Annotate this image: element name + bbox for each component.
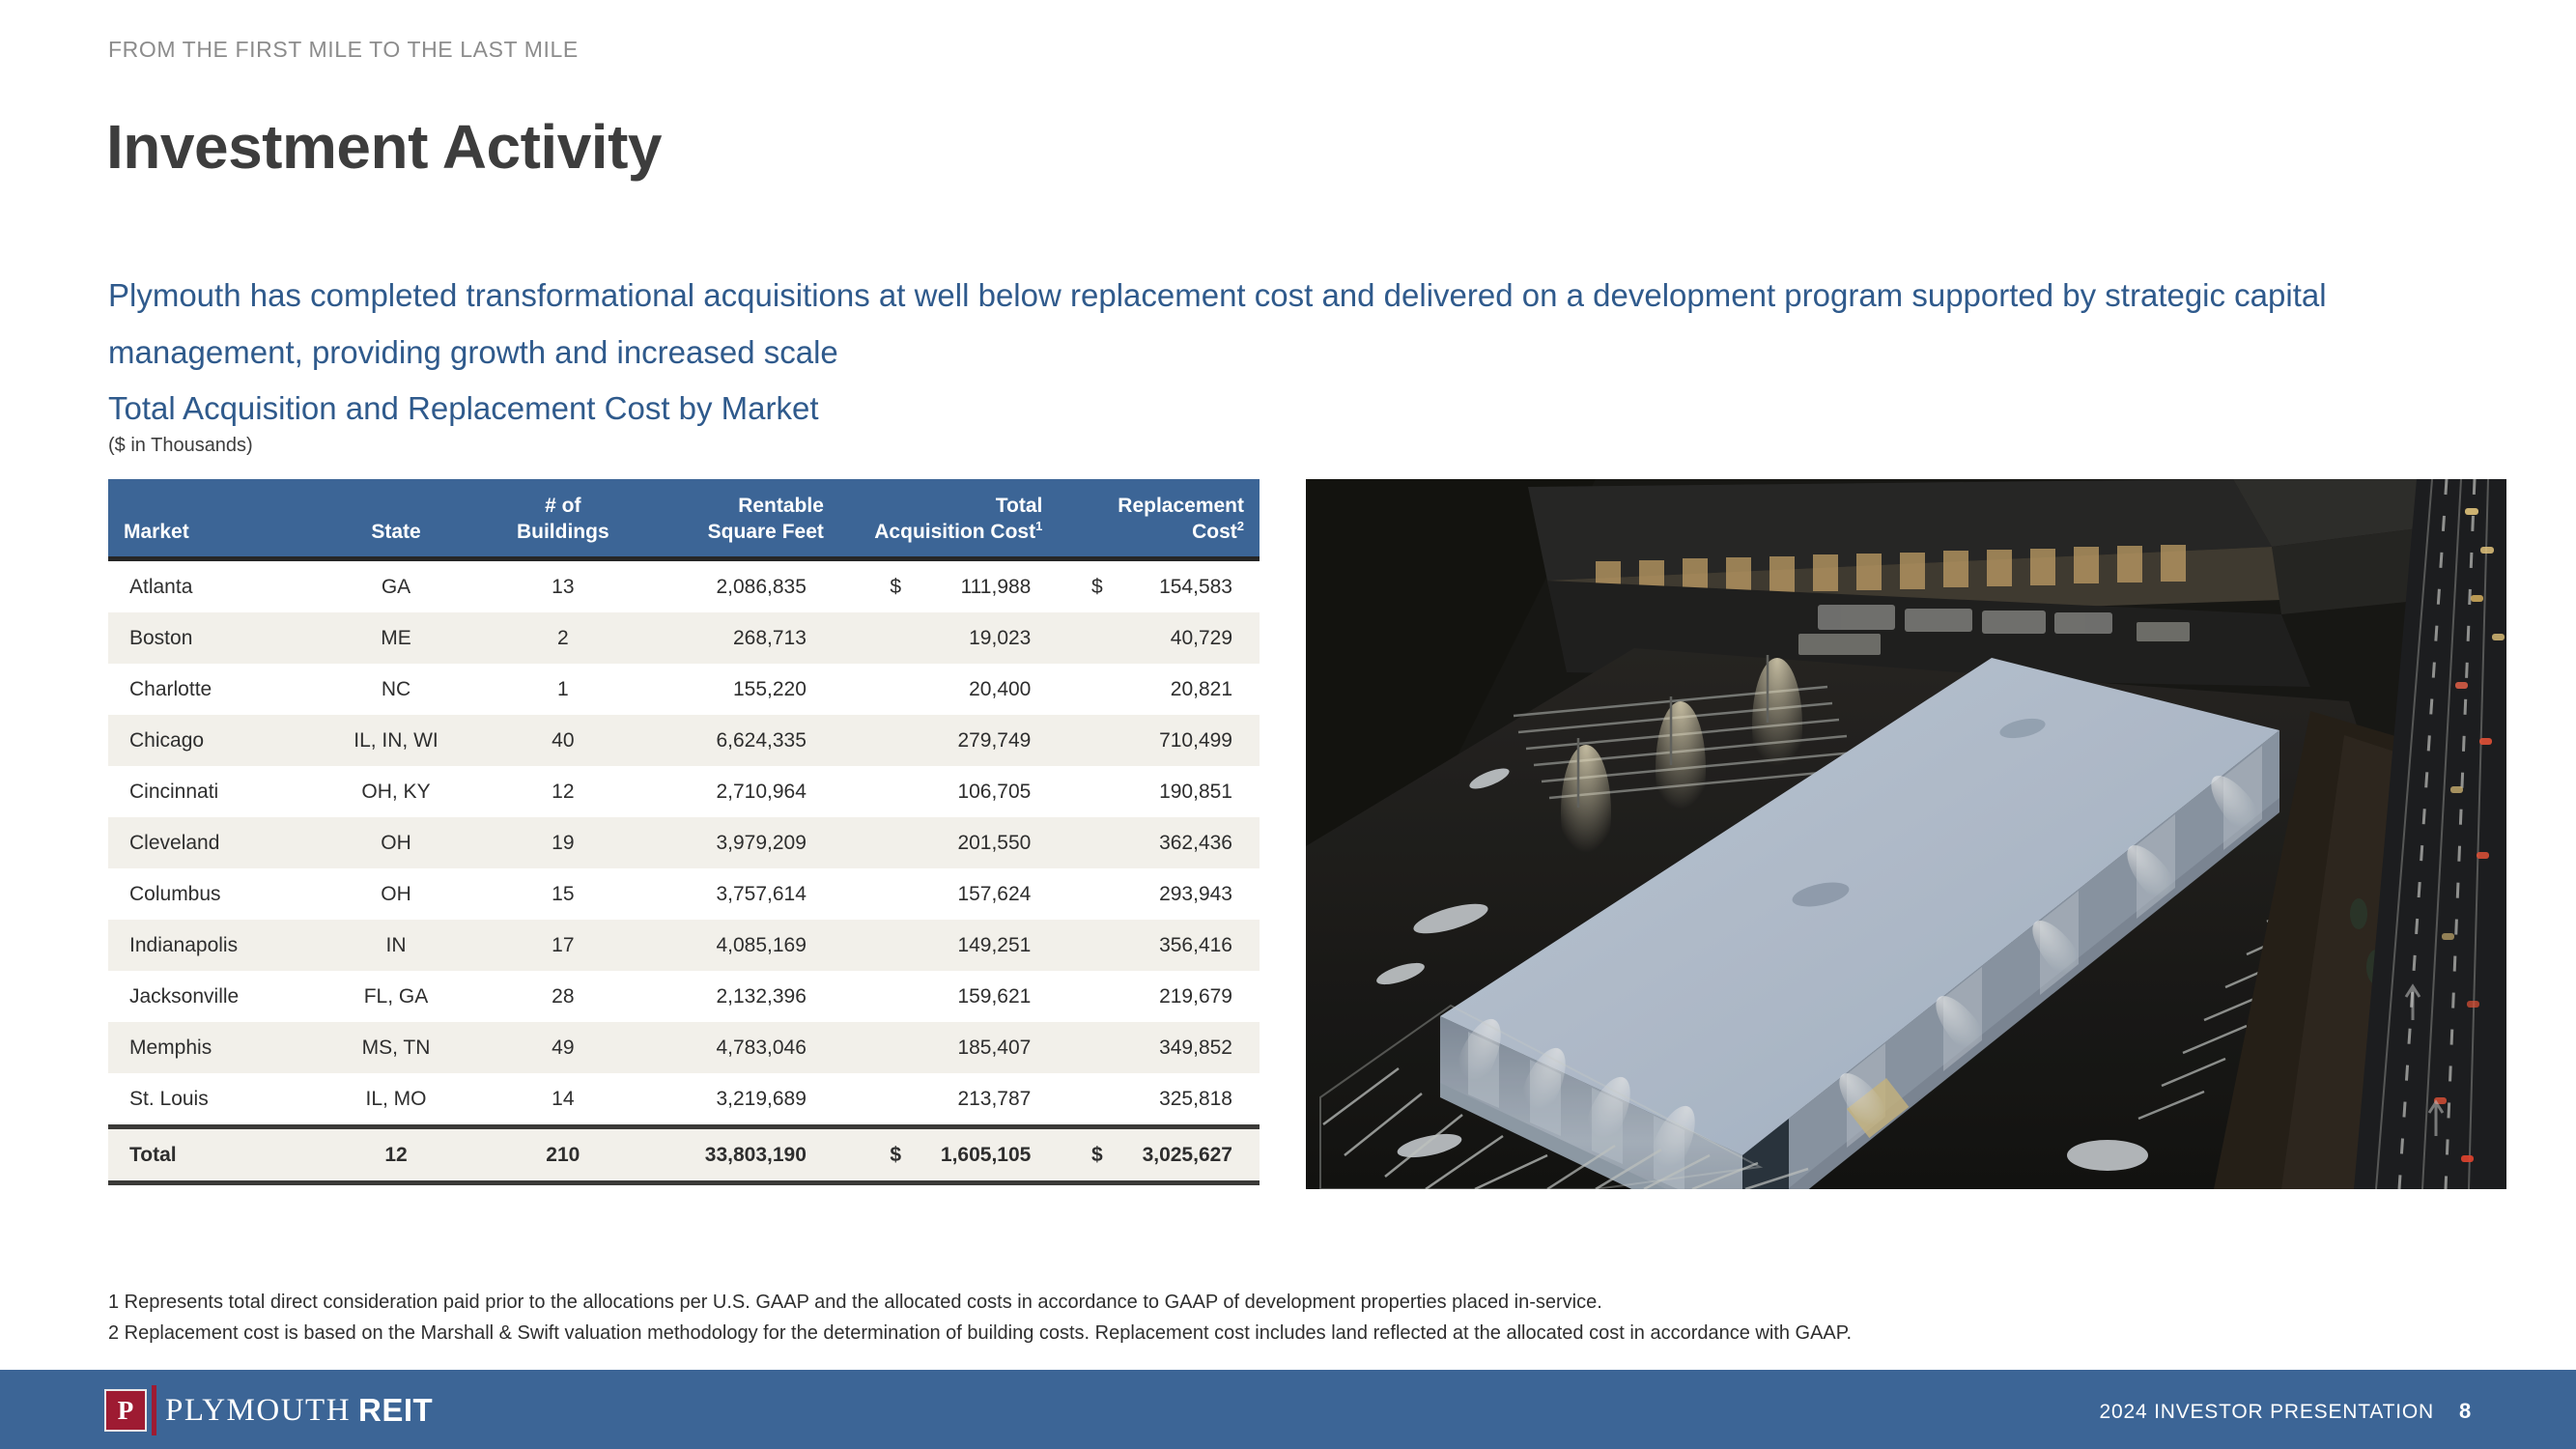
column-header-acquisition-cost-top: Total: [996, 495, 1043, 517]
cell-buildings: 17: [482, 920, 643, 971]
cell-total-square-feet: 33,803,190: [643, 1127, 839, 1183]
cell-square-feet: 2,132,396: [643, 971, 839, 1022]
cell-acquisition-cost: 19,023: [839, 612, 1058, 664]
table-row: IndianapolisIN174,085,169149,251356,416: [108, 920, 1260, 971]
column-header-buildings-label: Buildings: [517, 521, 609, 543]
table-row: CharlotteNC1155,22020,40020,821: [108, 664, 1260, 715]
cell-square-feet: 268,713: [643, 612, 839, 664]
section-title: Total Acquisition and Replacement Cost b…: [108, 390, 819, 427]
table-row: St. LouisIL, MO143,219,689213,787325,818: [108, 1073, 1260, 1127]
cell-square-feet: 155,220: [643, 664, 839, 715]
logo-reit-text: REIT: [358, 1392, 433, 1429]
amount-value: 190,851: [1128, 781, 1232, 804]
footnote-marker-1: 1: [1035, 519, 1042, 533]
lead-paragraph: Plymouth has completed transformational …: [108, 267, 2417, 381]
cell-buildings: 19: [482, 817, 643, 868]
column-header-acquisition-cost: Total Acquisition Cost1: [839, 479, 1058, 559]
table-row: ClevelandOH193,979,209201,550362,436: [108, 817, 1260, 868]
cell-buildings: 1: [482, 664, 643, 715]
cell-acquisition-cost: 159,621: [839, 971, 1058, 1022]
amount-value: 19,023: [926, 627, 1031, 650]
cell-buildings: 14: [482, 1073, 643, 1127]
column-header-replacement-cost: Replacement Cost2: [1058, 479, 1260, 559]
plymouth-reit-logo[interactable]: P PLYMOUTH REIT: [104, 1389, 433, 1432]
cell-market: Cleveland: [108, 817, 310, 868]
cell-replacement-cost: $154,583: [1058, 559, 1260, 613]
amount-value: 219,679: [1128, 985, 1232, 1009]
section-subtitle: ($ in Thousands): [108, 435, 253, 457]
cell-state: FL, GA: [310, 971, 483, 1022]
cell-buildings: 2: [482, 612, 643, 664]
column-header-square-feet: Rentable Square Feet: [643, 479, 839, 559]
footnote-2: 2 Replacement cost is based on the Marsh…: [108, 1318, 1852, 1349]
currency-symbol: $: [890, 576, 926, 599]
cell-replacement-cost: 219,679: [1058, 971, 1260, 1022]
amount-value: 149,251: [926, 934, 1031, 957]
cell-buildings: 13: [482, 559, 643, 613]
cell-market: Cincinnati: [108, 766, 310, 817]
footnote-marker-2: 2: [1237, 519, 1244, 533]
currency-symbol: $: [1091, 576, 1128, 599]
cell-state: MS, TN: [310, 1022, 483, 1073]
cell-state: GA: [310, 559, 483, 613]
cell-acquisition-cost: 20,400: [839, 664, 1058, 715]
presentation-label: 2024 INVESTOR PRESENTATION: [2100, 1401, 2434, 1424]
cell-state: IL, IN, WI: [310, 715, 483, 766]
column-header-square-feet-label: Square Feet: [708, 521, 824, 543]
property-photo-illustration: [1306, 479, 2506, 1189]
cell-square-feet: 4,085,169: [643, 920, 839, 971]
logo-p-mark: P: [104, 1389, 147, 1432]
cell-replacement-cost: 356,416: [1058, 920, 1260, 971]
amount-value: 3,025,627: [1128, 1144, 1232, 1167]
cell-square-feet: 3,757,614: [643, 868, 839, 920]
column-header-replacement-cost-label: Cost: [1192, 521, 1237, 543]
cell-replacement-cost: 293,943: [1058, 868, 1260, 920]
logo-divider-rule: [152, 1385, 156, 1435]
cell-state: NC: [310, 664, 483, 715]
cell-total-acquisition-cost: $1,605,105: [839, 1127, 1058, 1183]
table-row: ChicagoIL, IN, WI406,624,335279,749710,4…: [108, 715, 1260, 766]
amount-value: 362,436: [1128, 832, 1232, 855]
column-header-state-label: State: [371, 521, 420, 543]
amount-value: 185,407: [926, 1037, 1031, 1060]
cell-buildings: 15: [482, 868, 643, 920]
logo-plymouth-text: PLYMOUTH: [165, 1393, 351, 1429]
amount-value: 154,583: [1128, 576, 1232, 599]
cell-acquisition-cost: 279,749: [839, 715, 1058, 766]
amount-value: 106,705: [926, 781, 1031, 804]
amount-value: 356,416: [1128, 934, 1232, 957]
cell-acquisition-cost: $111,988: [839, 559, 1058, 613]
cell-market: Chicago: [108, 715, 310, 766]
cell-total-label: Total: [108, 1127, 310, 1183]
cell-replacement-cost: 20,821: [1058, 664, 1260, 715]
cell-state: OH: [310, 868, 483, 920]
cell-replacement-cost: 362,436: [1058, 817, 1260, 868]
cell-market: Indianapolis: [108, 920, 310, 971]
cell-market: Boston: [108, 612, 310, 664]
amount-value: 159,621: [926, 985, 1031, 1009]
cell-acquisition-cost: 106,705: [839, 766, 1058, 817]
amount-value: 157,624: [926, 883, 1031, 906]
amount-value: 213,787: [926, 1088, 1031, 1111]
cell-square-feet: 4,783,046: [643, 1022, 839, 1073]
cell-replacement-cost: 190,851: [1058, 766, 1260, 817]
column-header-market: Market: [108, 479, 310, 559]
footnote-1: 1 Represents total direct consideration …: [108, 1287, 1852, 1318]
amount-value: 1,605,105: [926, 1144, 1031, 1167]
acquisition-cost-table: Market State # of Buildings: [108, 479, 1260, 1185]
cell-buildings: 40: [482, 715, 643, 766]
cell-market: St. Louis: [108, 1073, 310, 1127]
amount-value: 279,749: [926, 729, 1031, 753]
column-header-acquisition-cost-label: Acquisition Cost: [874, 521, 1035, 543]
amount-value: 201,550: [926, 832, 1031, 855]
footer-meta: 2024 INVESTOR PRESENTATION 8: [2100, 1399, 2472, 1424]
cell-total-buildings: 210: [482, 1127, 643, 1183]
cell-acquisition-cost: 213,787: [839, 1073, 1058, 1127]
amount-value: 111,988: [926, 576, 1031, 599]
cell-market: Columbus: [108, 868, 310, 920]
cell-market: Charlotte: [108, 664, 310, 715]
table-row: ColumbusOH153,757,614157,624293,943: [108, 868, 1260, 920]
cell-acquisition-cost: 149,251: [839, 920, 1058, 971]
currency-symbol: $: [890, 1144, 926, 1167]
cell-square-feet: 2,710,964: [643, 766, 839, 817]
cell-replacement-cost: 325,818: [1058, 1073, 1260, 1127]
cell-acquisition-cost: 201,550: [839, 817, 1058, 868]
cell-replacement-cost: 349,852: [1058, 1022, 1260, 1073]
table-row: CincinnatiOH, KY122,710,964106,705190,85…: [108, 766, 1260, 817]
cell-state: IN: [310, 920, 483, 971]
table-header: Market State # of Buildings: [108, 479, 1260, 559]
column-header-state: State: [310, 479, 483, 559]
cell-replacement-cost: 40,729: [1058, 612, 1260, 664]
cell-state: ME: [310, 612, 483, 664]
cell-buildings: 49: [482, 1022, 643, 1073]
column-header-buildings: # of Buildings: [482, 479, 643, 559]
cell-replacement-cost: 710,499: [1058, 715, 1260, 766]
cell-square-feet: 6,624,335: [643, 715, 839, 766]
table-total-row: Total1221033,803,190$1,605,105$3,025,627: [108, 1127, 1260, 1183]
amount-value: 20,821: [1128, 678, 1232, 701]
cell-square-feet: 3,219,689: [643, 1073, 839, 1127]
column-header-square-feet-top: Rentable: [738, 495, 824, 517]
cell-buildings: 12: [482, 766, 643, 817]
page-number: 8: [2459, 1399, 2472, 1424]
cell-acquisition-cost: 185,407: [839, 1022, 1058, 1073]
amount-value: 40,729: [1128, 627, 1232, 650]
eyebrow-text: FROM THE FIRST MILE TO THE LAST MILE: [108, 37, 579, 63]
amount-value: 710,499: [1128, 729, 1232, 753]
page-title: Investment Activity: [106, 111, 662, 183]
cell-state: OH: [310, 817, 483, 868]
cell-square-feet: 3,979,209: [643, 817, 839, 868]
cell-buildings: 28: [482, 971, 643, 1022]
column-header-market-label: Market: [124, 521, 189, 543]
property-photo: [1306, 479, 2506, 1189]
table-row: AtlantaGA132,086,835$111,988$154,583: [108, 559, 1260, 613]
cell-market: Atlanta: [108, 559, 310, 613]
table-row: BostonME2268,71319,02340,729: [108, 612, 1260, 664]
cell-market: Jacksonville: [108, 971, 310, 1022]
amount-value: 293,943: [1128, 883, 1232, 906]
amount-value: 349,852: [1128, 1037, 1232, 1060]
cell-market: Memphis: [108, 1022, 310, 1073]
currency-symbol: $: [1091, 1144, 1128, 1167]
amount-value: 325,818: [1128, 1088, 1232, 1111]
cell-square-feet: 2,086,835: [643, 559, 839, 613]
cell-total-replacement-cost: $3,025,627: [1058, 1127, 1260, 1183]
column-header-buildings-top: # of: [545, 495, 580, 517]
column-header-replacement-cost-top: Replacement: [1118, 495, 1244, 517]
cell-acquisition-cost: 157,624: [839, 868, 1058, 920]
footer-bar: P PLYMOUTH REIT 2024 INVESTOR PRESENTATI…: [0, 1370, 2576, 1449]
footnotes: 1 Represents total direct consideration …: [108, 1287, 1852, 1349]
table-body: AtlantaGA132,086,835$111,988$154,583Bost…: [108, 559, 1260, 1183]
cell-total-state-count: 12: [310, 1127, 483, 1183]
amount-value: 20,400: [926, 678, 1031, 701]
table-row: JacksonvilleFL, GA282,132,396159,621219,…: [108, 971, 1260, 1022]
cell-state: OH, KY: [310, 766, 483, 817]
table-row: MemphisMS, TN494,783,046185,407349,852: [108, 1022, 1260, 1073]
cell-state: IL, MO: [310, 1073, 483, 1127]
